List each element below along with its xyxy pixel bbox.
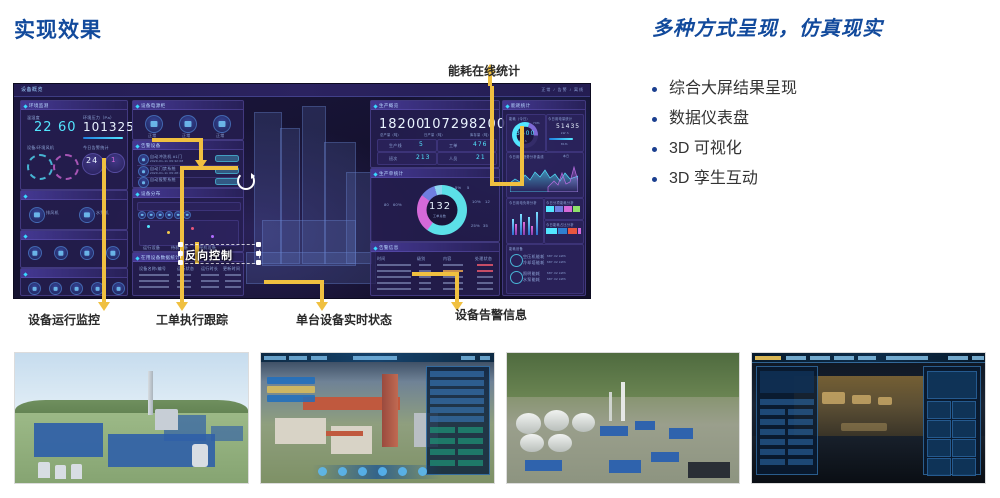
twin-left-menu[interactable] (267, 377, 315, 403)
gauge-pct: 70% (533, 121, 540, 125)
slice-label-3: 10% (472, 199, 481, 204)
dashboard-screenshot: 设备概览 正常 / 告警 / 离线 环境监测 温湿度 环境压力（Pa） 22 6… (14, 84, 590, 298)
process-block (651, 452, 679, 462)
annotation-line-4b (412, 272, 459, 276)
cabinet-icon-3 (213, 115, 231, 133)
panel-title: 生产概览 (371, 101, 499, 110)
window-light (878, 397, 892, 405)
plant-block (34, 423, 104, 457)
selection-handle[interactable] (256, 251, 261, 256)
stat-box-1[interactable] (377, 139, 437, 152)
stat-box-2[interactable] (437, 139, 497, 152)
alarm-col-1: 时间 (377, 256, 386, 262)
panel-title: 告警信息 (371, 243, 499, 252)
pressure-value: 101325 (83, 120, 135, 134)
storage-tank (516, 413, 542, 434)
panel-title: 设备电源柜 (133, 101, 243, 110)
panel-fan-devices[interactable]: 排风机 水泵机 (20, 190, 128, 230)
map-zone-icon-4 (165, 211, 173, 219)
selection-handle[interactable] (178, 251, 183, 256)
panel-production[interactable]: 生产概览 18200 10729 8200 总产量（吨） 日产量（吨） 库存量（… (370, 100, 500, 168)
table-row[interactable] (139, 286, 239, 291)
process-block (635, 421, 656, 430)
map-dot (147, 225, 150, 228)
panel-title (21, 191, 127, 200)
breakdown-title: 今日分项能耗分析 (546, 200, 574, 205)
annotation-label-4: 设备告警信息 (455, 306, 527, 323)
cabinet-icon-2 (179, 115, 197, 133)
twin-right-panel[interactable] (426, 366, 490, 475)
annotation-line-5c (490, 182, 524, 186)
map-legend-1: 运行设备 (143, 245, 160, 251)
process-block (600, 426, 628, 436)
kpi-label-2: 日产量（吨） (424, 132, 445, 137)
fan-gauge-a (27, 154, 53, 180)
page-title: 实现效果 (14, 14, 102, 44)
sensor-icon (28, 246, 42, 260)
panel-title: 生产单统计 (371, 169, 499, 178)
device-title: 能耗设备 (509, 246, 523, 251)
meter-unit: kW·h (561, 131, 569, 135)
stat-value-4: 21 (476, 154, 486, 161)
annotation-line-2 (180, 166, 184, 298)
refresh-icon[interactable] (237, 172, 255, 190)
cabinet-icon-1 (145, 115, 163, 133)
panel-energy[interactable]: 能耗统计 能耗（今日） 3600 kW·h 70% 今日用电量统计 51435 … (502, 100, 586, 296)
orders-center-label: 工单总数 (433, 214, 446, 218)
storage-tank (572, 413, 595, 433)
dashboard-titlebar: 设备概览 正常 / 告警 / 离线 (14, 84, 590, 97)
meter-progress-bar (549, 138, 573, 140)
table-row[interactable] (377, 264, 495, 269)
pressure-bar (83, 137, 123, 139)
bottom-arrow-head-2 (176, 302, 188, 311)
annotation-line-2b (180, 166, 238, 170)
selection-handle[interactable] (256, 260, 261, 265)
bottom-arrow-head-3 (316, 302, 328, 311)
stat-label-2: 工单 (449, 143, 458, 149)
fan-device-name: 排风机 (46, 210, 59, 216)
slice-label-2: 25% (471, 223, 480, 228)
list-item: 综合大屏结果呈现 (652, 74, 982, 104)
bottom-arrow-head-1 (98, 302, 110, 311)
ratio-swatch (568, 228, 577, 234)
fan-gauge-b (53, 154, 79, 180)
silo (38, 462, 50, 478)
alarm-row-name-3: 自动报警系统 (150, 177, 176, 183)
alarm-row-time-2: 2020-01-11 09:28:41 (150, 171, 183, 175)
alarm-col-2: 级别 (417, 256, 426, 262)
map-dot (211, 235, 214, 238)
meter-pct: 81% (561, 142, 568, 146)
silo (192, 444, 208, 467)
temperature-value: 22 (34, 120, 53, 135)
fault-count-value: 1 (111, 156, 116, 164)
slice-count-4: 5 (467, 185, 470, 190)
alarm-row-time-1: 2020-01-11 09:32:08 (150, 159, 183, 163)
section-title: 多种方式呈现，仿真现实 (652, 12, 883, 41)
meter-title: 今日用电量统计 (548, 116, 572, 121)
kpi-value-3: 8200 (469, 117, 506, 132)
alarm-col-4: 处理状态 (475, 256, 492, 262)
gauge-value: 3600 (516, 130, 535, 137)
breakdown-swatch (546, 206, 554, 212)
gauge-title: 能耗（今日） (509, 116, 530, 121)
window-light (822, 392, 845, 404)
twin-bottom-dock[interactable] (312, 465, 442, 479)
stat-box-4[interactable] (437, 152, 497, 165)
kpi-label-3: 库存量（吨） (470, 132, 491, 137)
power-icon (28, 282, 41, 295)
list-item: 3D 孪生互动 (652, 164, 982, 194)
table-col-4: 更新时间 (223, 266, 240, 272)
gas-icon (70, 282, 83, 295)
plant-block (211, 426, 244, 442)
alarm-row-state-1[interactable] (215, 155, 239, 162)
wireframe-plant-model (246, 102, 376, 292)
panel-device-map[interactable]: 设备分布 运行设备 待机设备 停机设备 (132, 188, 244, 252)
bullet-dot-icon (652, 117, 657, 122)
panel-alarm-table[interactable]: 告警信息 时间 级别 内容 处理状态 (370, 242, 500, 296)
reverse-control-label: 反向控制 (185, 247, 233, 263)
reverse-control-arrow-elbow (152, 138, 203, 142)
slice-count-3: 12 (485, 199, 490, 204)
ratio-swatch (578, 228, 581, 234)
stat-label-4: 人员 (449, 156, 458, 162)
floor-plan[interactable] (139, 220, 239, 246)
kpi-value-1: 18200 (379, 117, 425, 132)
stat-label-1: 生产线 (389, 143, 402, 149)
selection-handle[interactable] (256, 242, 261, 247)
annotation-line-5 (490, 86, 494, 130)
list-item: 3D 可视化 (652, 134, 982, 164)
alarm-row-icon-2 (138, 166, 149, 177)
kpi-label-1: 总产量（吨） (380, 132, 401, 137)
device-gauge-icon (510, 254, 523, 267)
trend-title: 今日用电趋势分析曲线 (509, 154, 544, 159)
panel-title: 能耗统计 (503, 101, 585, 110)
stat-value-3: 213 (416, 154, 430, 161)
valve-icon (80, 246, 94, 260)
list-item: 数据仪表盘 (652, 104, 982, 134)
table-row[interactable] (377, 282, 495, 287)
device-value-4: 687.32 kWh (547, 277, 566, 281)
chimney (148, 371, 153, 415)
scene-top-bar (752, 353, 985, 363)
alarm-col-3: 内容 (443, 256, 452, 262)
panel-orders[interactable]: 生产单统计 132 工单总数 60% 80 25% 35 10% 12 5% 5 (370, 168, 500, 242)
breakdown-swatch (564, 206, 572, 212)
process-block (525, 460, 562, 472)
panel-monitor-devices[interactable] (20, 230, 128, 268)
floor-highlight (841, 423, 888, 431)
map-dot (191, 227, 194, 230)
thumbnail-3d-indoor-scene[interactable] (751, 352, 986, 484)
twin-top-bar (261, 353, 494, 362)
storage-tank (548, 434, 571, 452)
table-col-3: 运行时长 (201, 266, 218, 272)
ratio-swatch (558, 228, 567, 234)
building (155, 409, 178, 430)
trend-legend: 本日 (563, 154, 569, 158)
list-item-label: 3D 可视化 (669, 141, 742, 157)
thumbnail-3d-plant-exterior[interactable] (14, 352, 249, 484)
panel-title: 告警设备 (133, 141, 243, 150)
fan-icon (29, 207, 45, 223)
list-item-label: 数据仪表盘 (669, 111, 749, 127)
device-value-3: 687.32 kWh (547, 271, 566, 275)
water-icon (49, 282, 62, 295)
factory-building (275, 418, 326, 444)
dashboard-status-legend: 正常 / 告警 / 离线 (541, 87, 584, 93)
bar-title: 今日用电负荷分析 (509, 200, 537, 205)
scene-right-panel[interactable] (923, 366, 981, 475)
annotation-line-5b (490, 128, 494, 186)
selection-handle[interactable] (178, 260, 183, 265)
ratio-title: 今日能耗占比分析 (546, 222, 574, 227)
table-row[interactable] (377, 276, 495, 281)
slice-label-1: 60% (393, 202, 402, 207)
process-block (609, 460, 642, 473)
thumbnail-3d-refinery-aerial[interactable] (506, 352, 741, 484)
thumbnail-gallery (14, 352, 986, 484)
alarm-row-state-3[interactable] (215, 178, 239, 185)
slide-root: 实现效果 多种方式呈现，仿真现实 综合大屏结果呈现 数据仪表盘 3D 可视化 3… (0, 0, 1000, 498)
bullet-dot-icon (652, 87, 657, 92)
alarm-row-icon-3 (138, 177, 149, 188)
map-dot (167, 231, 170, 234)
chimney (621, 382, 626, 421)
pump-icon (79, 207, 95, 223)
selection-handle[interactable] (178, 242, 183, 247)
scene-left-panel[interactable] (756, 366, 818, 475)
panel-energy-devices[interactable] (20, 268, 128, 296)
alarm-count-value: 24 (86, 156, 98, 165)
alarm-row-icon-1 (138, 154, 149, 165)
thumbnail-3d-digital-twin[interactable] (260, 352, 495, 484)
device-name-4: 水泵能耗 (523, 277, 540, 283)
panel-environment[interactable]: 环境监测 温湿度 环境压力（Pa） 22 60 101325 设备/环境风机 今… (20, 100, 128, 190)
panel-device-cabinet[interactable]: 设备电源柜 正常 正常 正常 (132, 100, 244, 140)
map-zone-icon-3 (156, 211, 164, 219)
breakdown-swatch (573, 206, 580, 212)
panel-title (21, 269, 127, 278)
table-row[interactable] (139, 280, 239, 285)
fan-label: 设备/环境风机 (27, 145, 54, 151)
panel-title (21, 231, 127, 240)
bullet-dot-icon (652, 177, 657, 182)
process-block (669, 428, 692, 438)
table-col-1: 设备名称/编号 (139, 266, 166, 272)
orders-center-value: 132 (429, 201, 451, 212)
process-block (688, 462, 730, 478)
map-zone-icon-2 (147, 211, 155, 219)
device-gauge-icon-2 (510, 271, 523, 284)
dashboard-title: 设备概览 (21, 86, 43, 93)
slice-count-2: 35 (483, 223, 488, 228)
annotation-line-3b (264, 280, 324, 284)
preheater-tower (382, 374, 398, 447)
alarm-label: 今日告警统计 (83, 145, 109, 151)
humidity-value: 60 (58, 120, 77, 135)
stat-value-1: 5 (419, 141, 424, 148)
table-row[interactable] (139, 274, 239, 279)
annotation-label-energy: 能耗在线统计 (448, 62, 520, 79)
bullet-dot-icon (652, 147, 657, 152)
map-zone-icon-6 (183, 211, 191, 219)
feature-list: 综合大屏结果呈现 数据仪表盘 3D 可视化 3D 孪生互动 (652, 74, 982, 194)
storage-tank (544, 410, 570, 431)
meter-value: 51435 (556, 123, 580, 130)
factory-roof (326, 431, 363, 436)
silo (55, 465, 67, 479)
panel-title: 设备分布 (133, 189, 243, 198)
table-row[interactable] (377, 288, 495, 293)
breakdown-swatch (555, 206, 563, 212)
energy-bar-chart (511, 209, 539, 235)
panel-title: 环境监测 (21, 101, 127, 110)
map-zone-icon-1 (138, 211, 146, 219)
silo (71, 464, 83, 480)
annotation-label-2: 工单执行跟踪 (156, 311, 228, 328)
panel-alarm-devices[interactable]: 告警设备 自动冲洗机 #1门 2020-01-11 09:32:08 自动门禁系… (132, 140, 244, 188)
annotation-label-1: 设备运行监控 (28, 311, 100, 328)
chimney (609, 392, 612, 421)
heat-icon (112, 282, 125, 295)
window-light (852, 395, 871, 404)
annotation-label-3: 单台设备实时状态 (296, 311, 392, 328)
ratio-swatch (546, 228, 557, 234)
stat-label-3: 班次 (389, 156, 398, 162)
device-name-2: 冷却塔能耗 (523, 260, 545, 266)
slice-label-4: 5% (455, 185, 461, 190)
cabinet-state-3: 正常 (216, 133, 225, 139)
annotation-line-1 (102, 158, 106, 298)
slice-count-1: 80 (384, 202, 389, 207)
list-item-label: 3D 孪生互动 (669, 171, 758, 187)
storage-tank (520, 434, 543, 452)
camera-icon (54, 246, 68, 260)
lock-icon (106, 246, 120, 260)
annotation-line-5d (520, 126, 524, 186)
map-toolbar[interactable] (137, 202, 241, 211)
list-item-label: 综合大屏结果呈现 (669, 81, 797, 97)
stat-value-2: 476 (473, 141, 487, 148)
energy-device-card[interactable] (506, 244, 584, 294)
kpi-value-2: 10729 (423, 117, 469, 132)
